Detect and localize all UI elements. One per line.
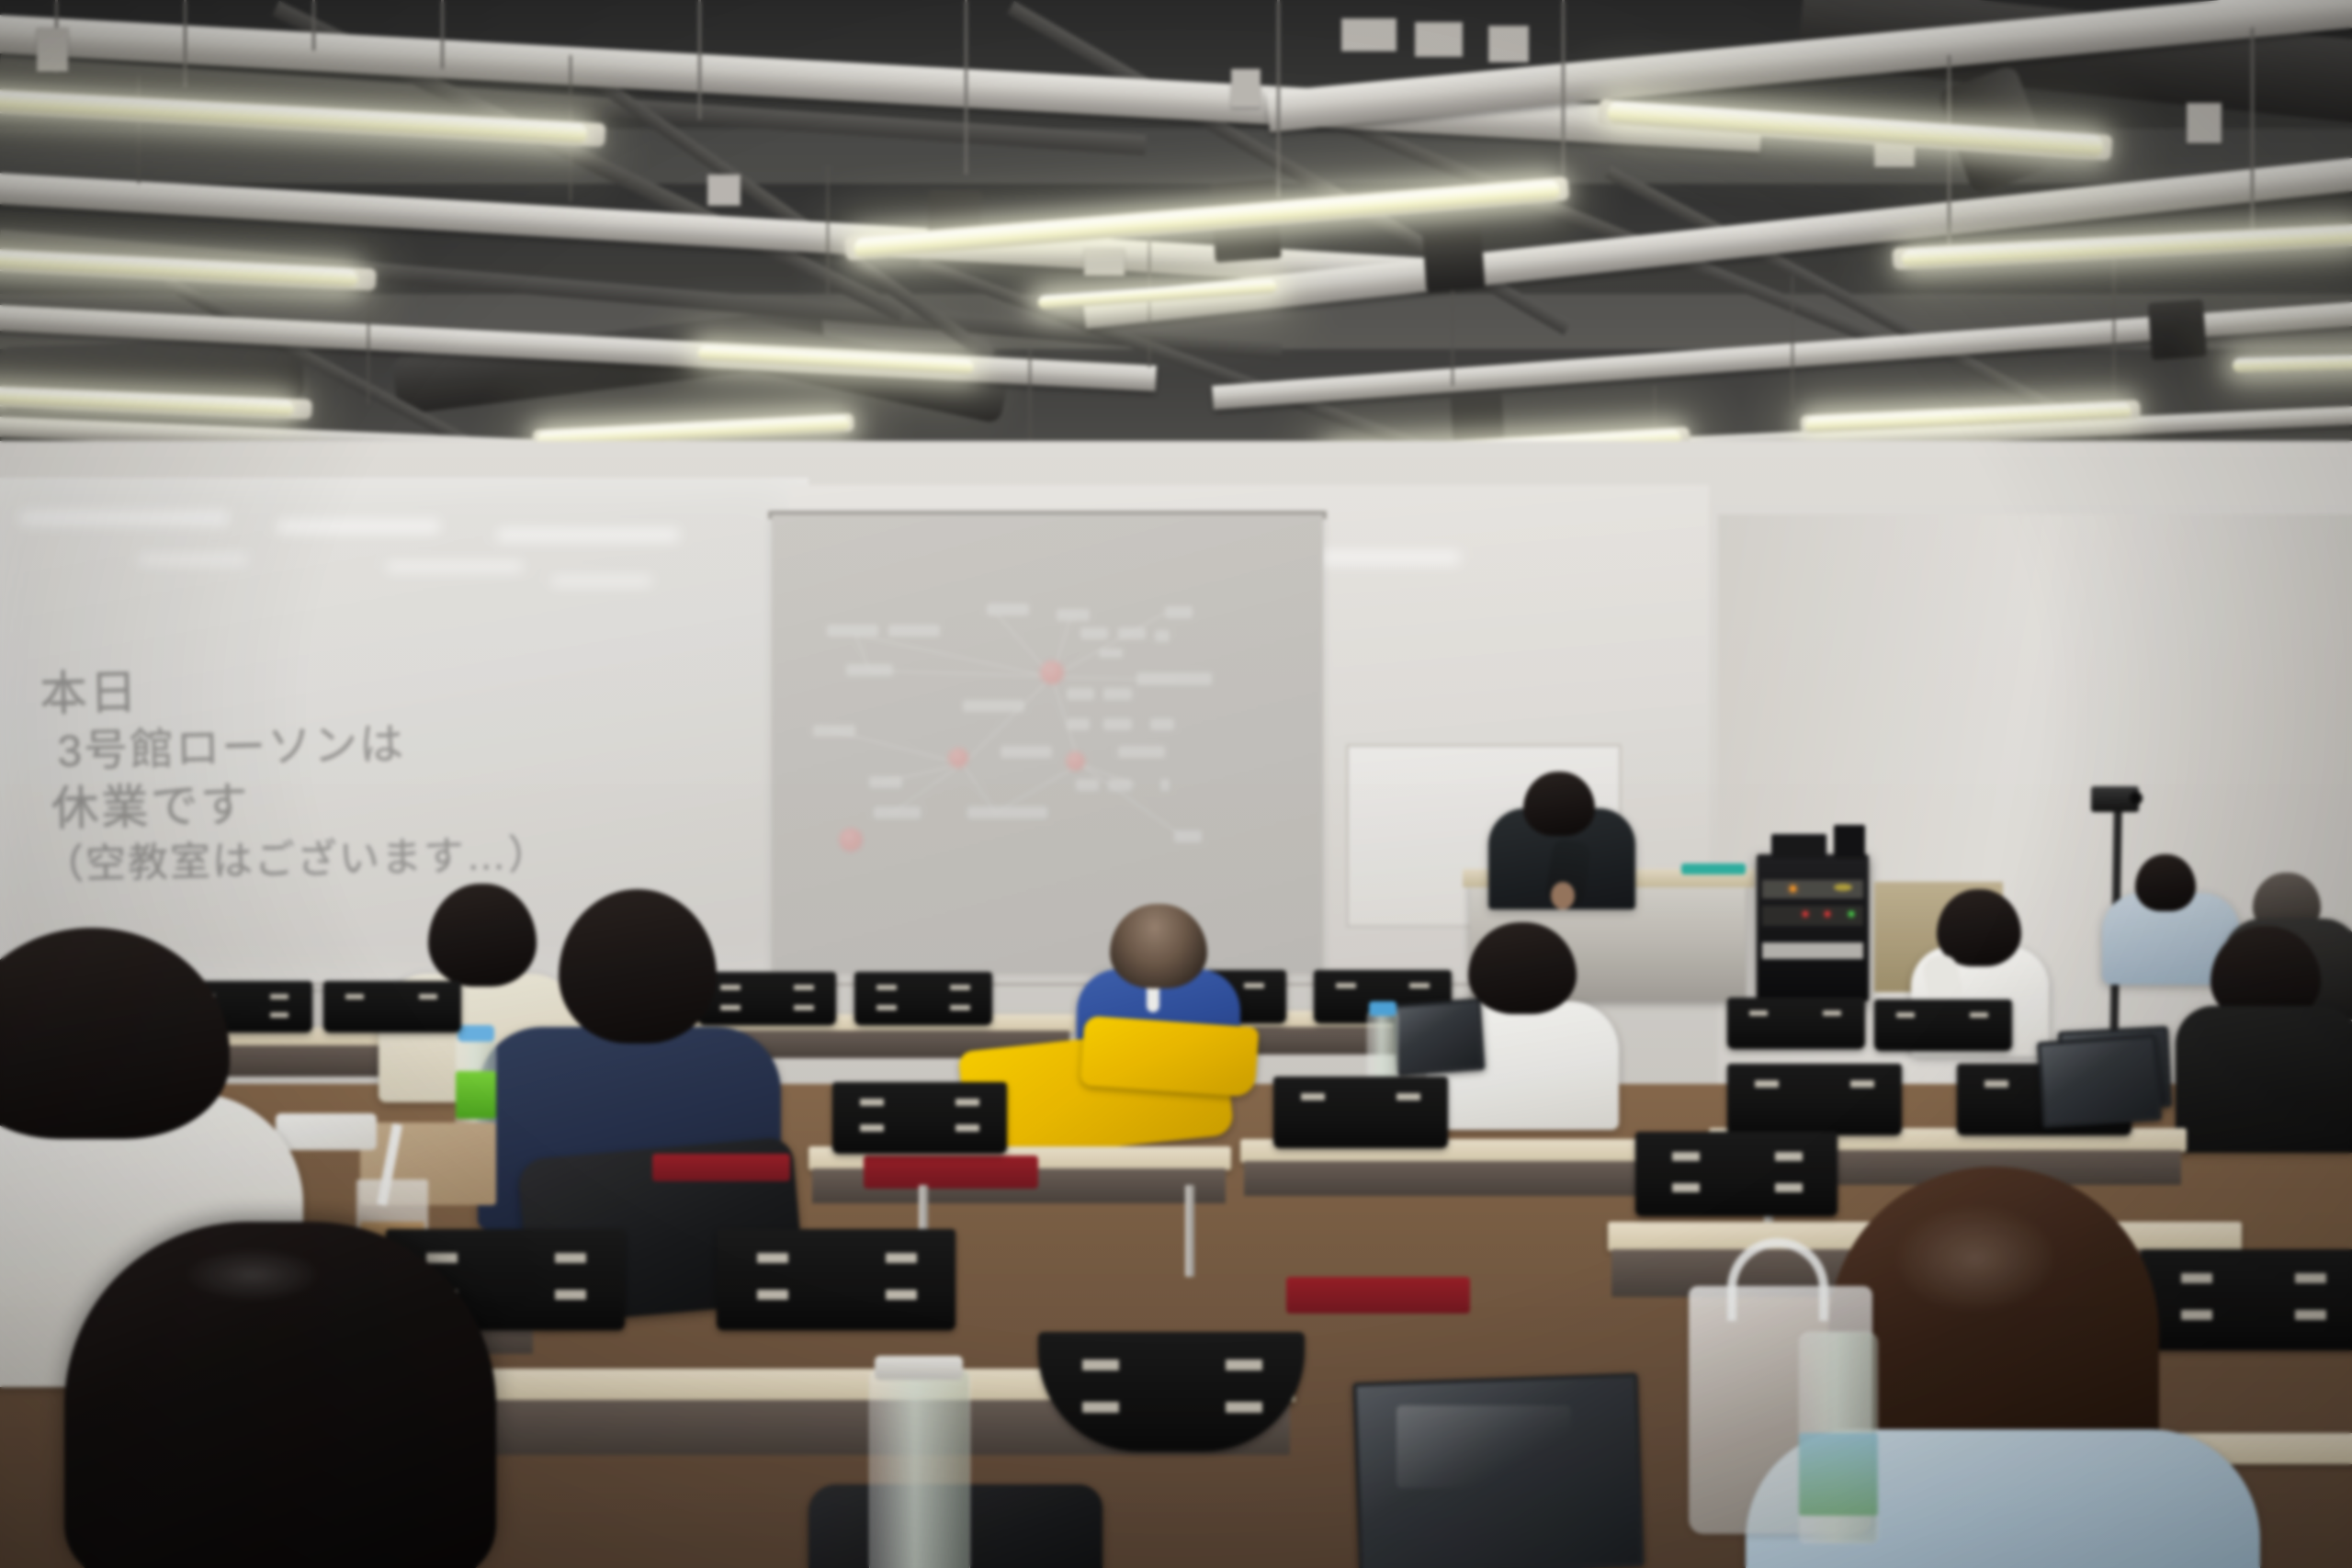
chair [1874, 999, 2012, 1051]
presenter-head [1523, 772, 1595, 836]
chair [717, 1229, 955, 1330]
led-indicator [1825, 911, 1830, 917]
chair-seat [652, 1154, 790, 1181]
slide-label [827, 625, 878, 637]
bottle-cap [875, 1356, 963, 1380]
handwriting-line-3: 休業です [41, 772, 437, 840]
led-indicator [1849, 911, 1854, 917]
bottle-label [1799, 1433, 1878, 1516]
chair [698, 972, 836, 1025]
slide-label [1076, 779, 1100, 791]
bottle-cap-green [458, 1025, 494, 1042]
whiteboard-glare [276, 520, 441, 533]
slide-node [1040, 660, 1064, 684]
person-blue-polo-head [1110, 904, 1207, 988]
slide-label [1160, 779, 1170, 791]
slide-label [874, 807, 921, 818]
av-rack-shelf [1762, 942, 1863, 959]
chair [2141, 1249, 2352, 1350]
slide-label [1103, 718, 1132, 730]
ceiling-speaker [2148, 299, 2207, 360]
slide-label [1099, 649, 1123, 658]
person-cream-shirt-head [428, 884, 537, 987]
slide-label [1136, 672, 1212, 684]
chair-leg [1185, 1185, 1194, 1277]
slide-label [1067, 718, 1091, 730]
slide-label [1165, 606, 1193, 618]
bottle-cap [1369, 1001, 1396, 1016]
whiteboard-glare [138, 555, 248, 564]
chair [854, 972, 992, 1025]
av-rack-top-gear [1771, 834, 1826, 858]
napkin [276, 1113, 377, 1150]
slide-label [1057, 609, 1090, 621]
teal-marker [1681, 863, 1746, 874]
slide-label [1118, 627, 1147, 639]
slide-label [967, 807, 1047, 818]
laptop [2037, 1034, 2162, 1129]
slide-label [1155, 630, 1169, 642]
slide-label [1001, 746, 1052, 758]
led-indicator [1790, 886, 1796, 892]
slide-label [1067, 688, 1095, 700]
led-indicator [1803, 911, 1808, 917]
slide-label [846, 664, 893, 676]
yellow-jacket [1080, 1015, 1260, 1097]
led-indicator [1834, 884, 1852, 891]
chair-seat [1286, 1277, 1470, 1314]
water-bottle [869, 1369, 970, 1568]
whiteboard-glare [551, 577, 652, 585]
handwriting-line-1: 本日 [39, 658, 435, 726]
slide-label [813, 725, 855, 737]
lecture-hall-photo: 本日 3号館ローソンは 休業です （空教室はございます…） [0, 0, 2352, 1568]
slide-label [987, 604, 1029, 615]
slide-label [963, 700, 1023, 712]
chair [832, 1082, 1007, 1154]
desk-panel [1244, 1161, 1676, 1196]
slide-label [1150, 718, 1174, 730]
slide-node [1066, 751, 1085, 771]
person-white-blouse-head [1937, 889, 2021, 966]
chair [323, 981, 461, 1032]
slide-label [1118, 746, 1165, 758]
person-long-hair-highlight [184, 1247, 322, 1303]
camera-lens-icon [2130, 792, 2143, 805]
person-white-tshirt-head [1468, 922, 1577, 1014]
slide-node [839, 828, 863, 852]
av-equipment-rack [1757, 854, 1869, 1001]
whiteboard-glare [18, 511, 230, 525]
whiteboard-glare [386, 562, 524, 571]
presenter-hand [1551, 882, 1575, 909]
laptop-screen-glare [1396, 1405, 1571, 1488]
person-light-blue-front-hair-highlight [1893, 1203, 2058, 1314]
slide-label [869, 776, 902, 788]
projected-slide [808, 588, 1277, 891]
chair-seat [864, 1156, 1038, 1189]
slide-node [948, 748, 968, 768]
av-rack-top-gear [1834, 825, 1865, 858]
slide-edge [1080, 764, 1183, 838]
av-rack-shelf [1762, 906, 1863, 926]
chair [1727, 1064, 1902, 1135]
chair [1635, 1132, 1837, 1216]
handwriting-line-2: 3号館ローソンは [40, 717, 436, 781]
slide-label [888, 625, 940, 637]
ceiling-speaker [1421, 217, 1485, 292]
slide-label [1108, 779, 1132, 791]
handwriting-line-4: （空教室はございます…） [42, 831, 438, 890]
person-dark-foreground-body [2176, 1006, 2352, 1153]
whiteboard-handwriting: 本日 3号館ローソンは 休業です （空教室はございます…） [39, 658, 438, 891]
chair [1727, 998, 1865, 1049]
slide-label [1174, 830, 1203, 842]
ceiling-speaker [1451, 392, 1505, 441]
fluorescent-light [2233, 355, 2352, 373]
bottle-label-green [456, 1071, 496, 1119]
laptop [1392, 998, 1485, 1077]
slide-label [1080, 627, 1109, 639]
whiteboard-glare [496, 529, 680, 541]
chair [1273, 1077, 1448, 1148]
person-light-blue-head [2135, 854, 2196, 911]
slide-label [1103, 688, 1132, 700]
